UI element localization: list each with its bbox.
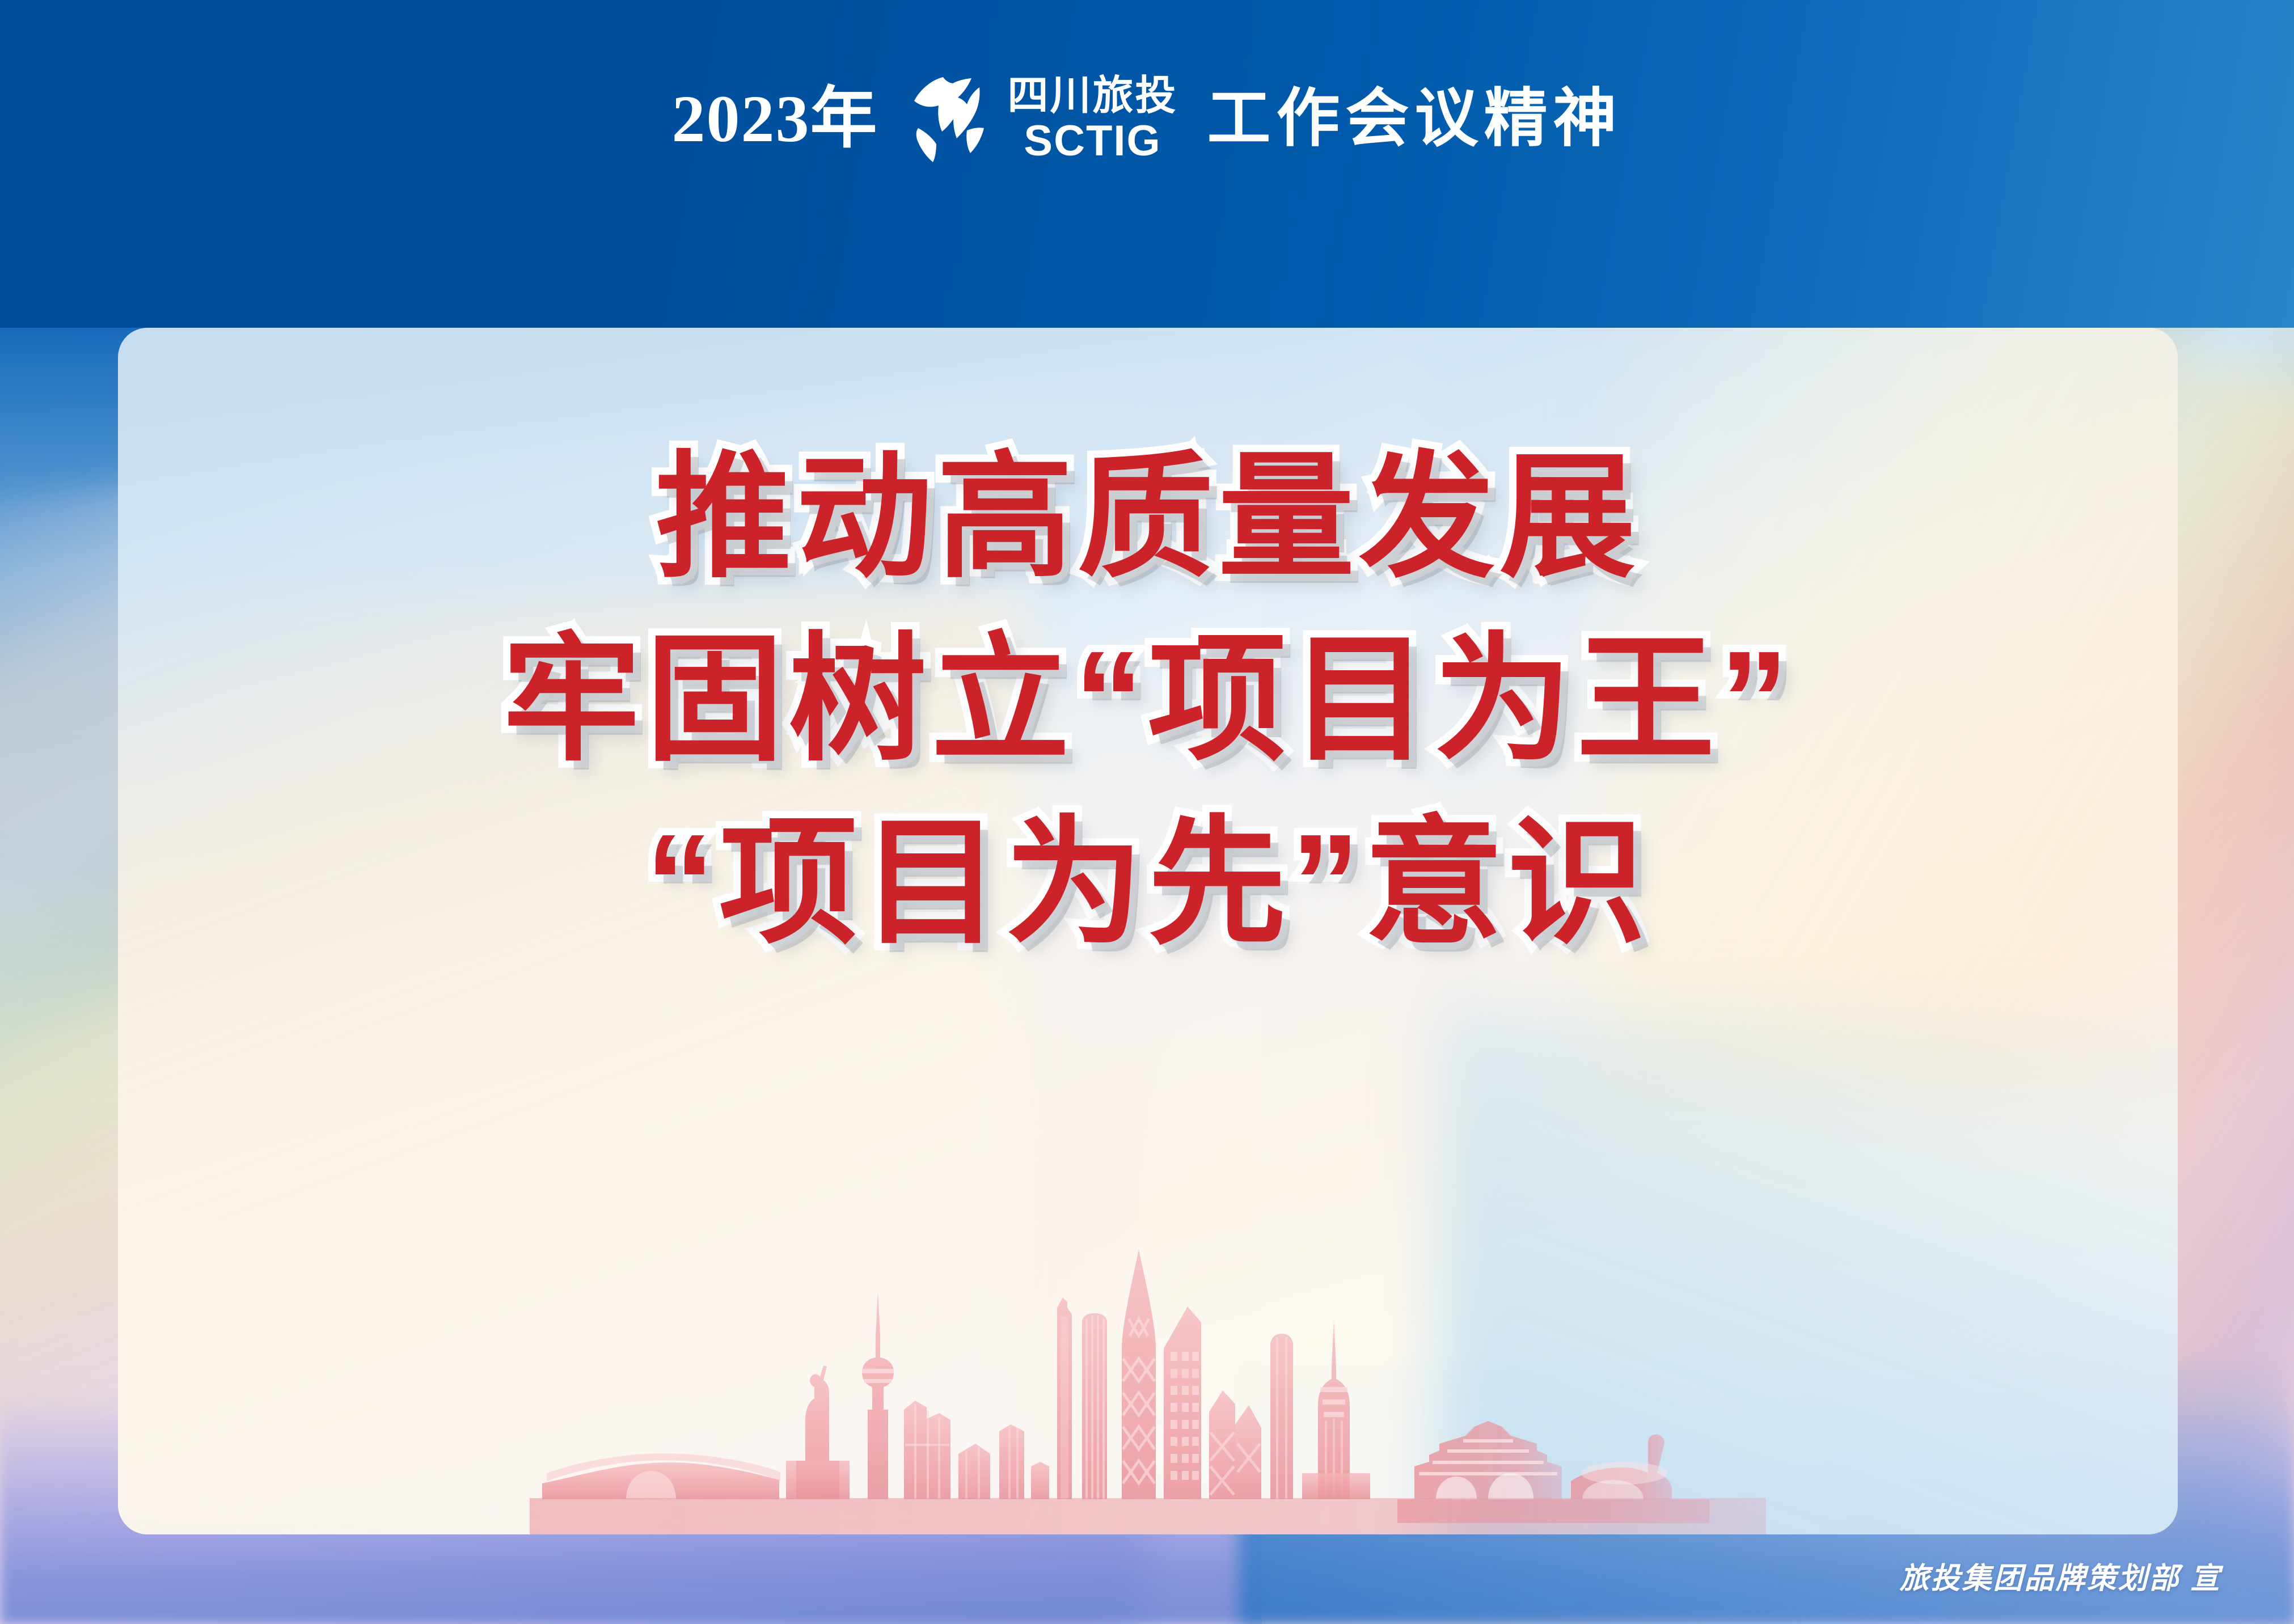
header-tail-label: 工作会议精神 (1207, 87, 1623, 151)
slogan-line-3: “项目为先”意识 (645, 805, 1650, 960)
sctig-logo-wordmark: 四川旅投 SCTIG (1008, 75, 1178, 163)
slogan-line-1: 推动高质量发展 (656, 441, 1640, 594)
sctig-panda-landscape-mark-icon (908, 76, 993, 162)
chengdu-skyline-silhouette-icon (530, 1217, 1766, 1534)
header-content: 2023年 四川旅投 SCTIG 工作会议精神 (0, 0, 2294, 238)
poster-canvas: 2023年 四川旅投 SCTIG 工作会议精神 推动高质量发展 (0, 0, 2294, 1624)
content-card-panel: 推动高质量发展 牢固树立“项目为王” “项目为先”意识 (118, 328, 2178, 1534)
sctig-logo-cn-name: 四川旅投 (1008, 75, 1178, 116)
credit-line: 旅投集团品牌策划部 宣 (1900, 1554, 2221, 1597)
sctig-logo-en-name: SCTIG (1024, 120, 1161, 163)
slogan-title-block: 推动高质量发展 牢固树立“项目为王” “项目为先”意识 (118, 441, 2178, 960)
header-year-label: 2023年 (671, 86, 878, 153)
sctig-logo: 四川旅投 SCTIG (908, 75, 1178, 163)
slogan-line-2: 牢固树立“项目为王” (502, 622, 1793, 777)
header-band: 2023年 四川旅投 SCTIG 工作会议精神 (0, 0, 2294, 328)
